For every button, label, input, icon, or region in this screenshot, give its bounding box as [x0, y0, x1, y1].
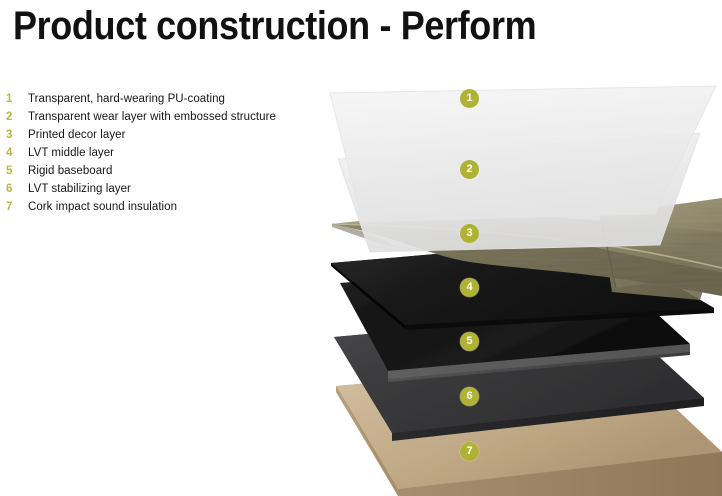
layer-badge-1-label: 1 [460, 89, 479, 108]
product-construction-diagram [0, 0, 722, 496]
legend-list: 1 Transparent, hard-wearing PU-coating 2… [0, 90, 330, 216]
list-item: 5 Rigid baseboard [0, 162, 330, 180]
layer-badge-4-label: 4 [460, 278, 479, 297]
layer-5-rigid-baseboard [340, 262, 690, 382]
layer-badge-3-label: 3 [460, 224, 479, 243]
layer-badge-7[interactable]: 7 [460, 442, 479, 461]
layer-badge-7-label: 7 [460, 442, 479, 461]
layer-badge-6-label: 6 [460, 387, 479, 406]
layer-1-pu-coating [330, 86, 716, 222]
legend-number: 6 [6, 180, 20, 198]
legend-item-label: Transparent, hard-wearing PU-coating [28, 90, 225, 108]
legend-item-label: Rigid baseboard [28, 162, 113, 180]
page-title: Product construction - Perform [13, 2, 536, 50]
legend-number: 7 [6, 198, 20, 216]
list-item: 2 Transparent wear layer with embossed s… [0, 108, 330, 126]
legend-number: 2 [6, 108, 20, 126]
list-item: 3 Printed decor layer [0, 126, 330, 144]
layer-badge-2-label: 2 [460, 160, 479, 179]
layer-4-lvt-middle [331, 240, 714, 330]
legend-item-label: LVT middle layer [28, 144, 114, 162]
legend-item-label: LVT stabilizing layer [28, 180, 131, 198]
layer-6-lvt-stabilizing [334, 312, 704, 441]
layer-badge-5-label: 5 [460, 332, 479, 351]
list-item: 4 LVT middle layer [0, 144, 330, 162]
list-item: 1 Transparent, hard-wearing PU-coating [0, 90, 330, 108]
layer-badge-3[interactable]: 3 [460, 224, 479, 243]
legend-item-label: Transparent wear layer with embossed str… [28, 108, 276, 126]
layer-2-wear-layer [338, 133, 700, 252]
list-item: 7 Cork impact sound insulation [0, 198, 330, 216]
layer-badge-6[interactable]: 6 [460, 387, 479, 406]
layer-3-printed-decor [332, 198, 722, 300]
layer-7-cork-insulation [336, 360, 722, 496]
layer-badge-5[interactable]: 5 [460, 332, 479, 351]
legend-number: 1 [6, 90, 20, 108]
legend-number: 5 [6, 162, 20, 180]
layer-badge-1[interactable]: 1 [460, 89, 479, 108]
list-item: 6 LVT stabilizing layer [0, 180, 330, 198]
layer-badge-4[interactable]: 4 [460, 278, 479, 297]
layer-badge-2[interactable]: 2 [460, 160, 479, 179]
legend-number: 4 [6, 144, 20, 162]
legend-item-label: Printed decor layer [28, 126, 125, 144]
legend-number: 3 [6, 126, 20, 144]
legend-item-label: Cork impact sound insulation [28, 198, 177, 216]
